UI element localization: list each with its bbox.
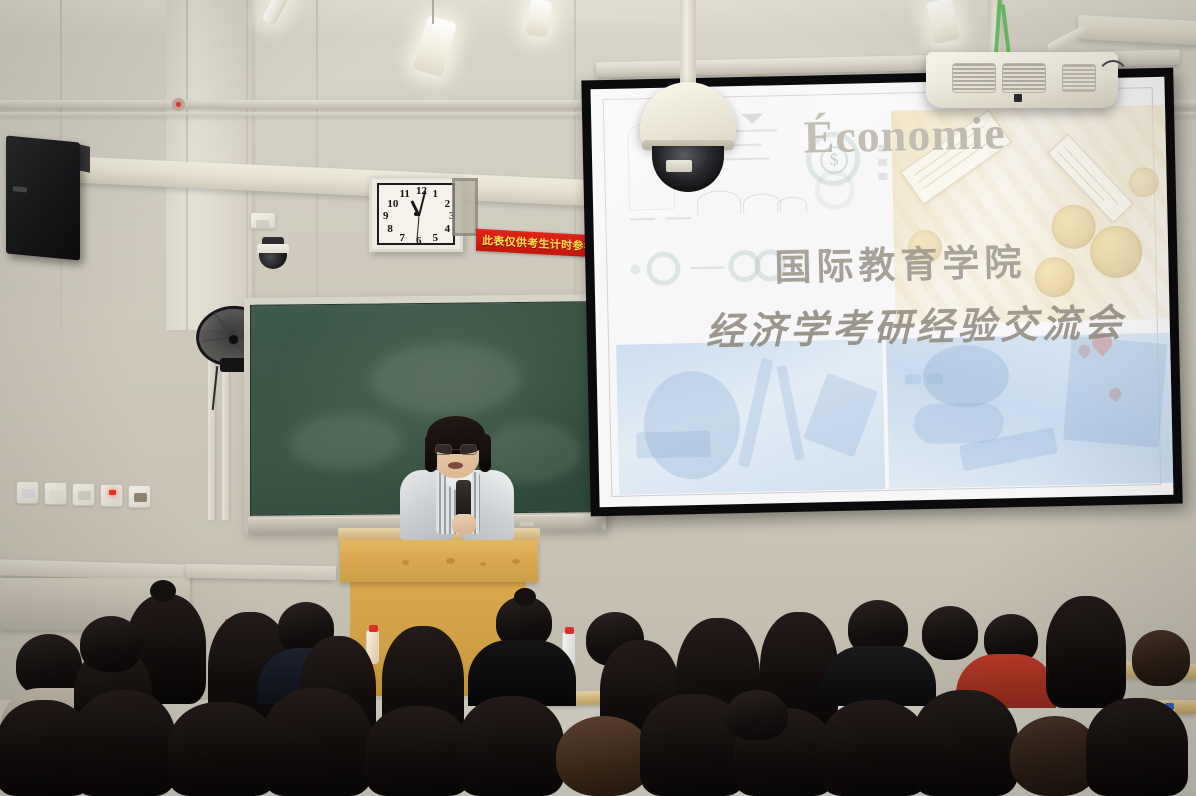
- clock-numeral: 2: [445, 199, 451, 210]
- presenter-glasses: [435, 444, 477, 455]
- ptz-camera: [640, 82, 736, 192]
- audience-head: [726, 690, 788, 740]
- wall-outlet[interactable]: [128, 485, 151, 508]
- pa-speaker: [6, 135, 80, 260]
- wall-seam: [574, 0, 576, 330]
- audience-shoulders: [822, 646, 936, 706]
- audience-head: [72, 690, 176, 796]
- audience-hair-bun: [514, 588, 536, 606]
- lecture-hall-scene: 121234567891011 此表仅供考生计时参考，考试时: [0, 0, 1196, 796]
- audience-head: [556, 716, 652, 796]
- audience-head: [16, 634, 82, 696]
- wall-seam: [316, 0, 318, 330]
- ceiling-projector: [926, 52, 1118, 116]
- audience-head: [1086, 698, 1188, 796]
- presenter: [398, 418, 514, 540]
- audience-head: [912, 690, 1018, 796]
- audience-hair-bun: [150, 580, 176, 602]
- clock-numeral: 8: [387, 224, 393, 235]
- slide-photo-left: [616, 339, 885, 495]
- light-suspension-rod: [432, 0, 434, 24]
- wall-outlet[interactable]: [16, 481, 39, 504]
- audience-head: [366, 706, 470, 796]
- side-ledge: [186, 564, 336, 581]
- wall-outlet[interactable]: [44, 482, 67, 505]
- motion-sensor: [172, 98, 185, 111]
- clock-numeral: 11: [400, 189, 410, 200]
- slide-organization: 国际教育学院: [774, 232, 1027, 291]
- clock-numeral: 1: [433, 189, 439, 200]
- ceiling-junction-box: [250, 212, 276, 229]
- audience-head: [1046, 596, 1126, 708]
- dome-camera: [255, 237, 291, 271]
- slide-event-title: 经济学考研经验交流会: [705, 292, 1126, 356]
- wall-frame: [452, 178, 478, 236]
- wall-switch-powered[interactable]: [100, 484, 123, 507]
- clock-numeral: 9: [383, 211, 389, 222]
- audience-head: [1132, 630, 1190, 686]
- wall-outlet[interactable]: [72, 483, 95, 506]
- clock-numeral: 10: [387, 199, 398, 210]
- presenter-hand: [452, 514, 476, 534]
- audience-head: [168, 702, 276, 796]
- clock-numeral: 4: [445, 224, 451, 235]
- wall-clock: 121234567891011: [369, 176, 463, 252]
- clock-numeral: 5: [433, 233, 439, 244]
- audience-head: [458, 696, 564, 796]
- presenter-mouth: [448, 462, 463, 469]
- audience-head: [80, 616, 142, 672]
- audience-head: [262, 688, 372, 796]
- slide-photo-right: [886, 333, 1173, 489]
- presenter-hair-side: [479, 434, 491, 472]
- audience-head: [922, 606, 978, 660]
- wall-conduit: [222, 360, 229, 520]
- clock-numeral: 7: [400, 233, 406, 244]
